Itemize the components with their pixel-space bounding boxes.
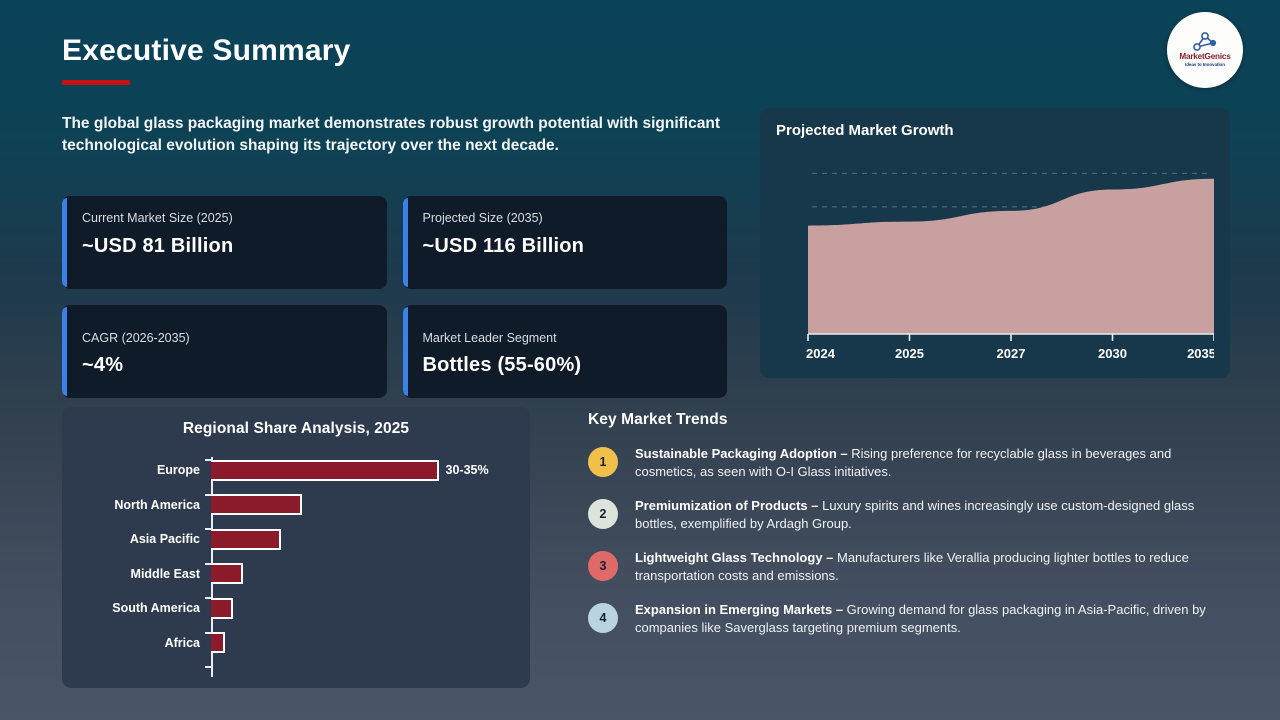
- trend-heading: Lightweight Glass Technology –: [635, 550, 833, 565]
- stat-card-projected-size: Projected Size (2035) ~USD 116 Billion: [403, 196, 728, 289]
- trend-heading: Expansion in Emerging Markets –: [635, 602, 843, 617]
- x-axis-tick-label: 2030: [1098, 346, 1127, 361]
- stat-card-current-market-size: Current Market Size (2025) ~USD 81 Billi…: [62, 196, 387, 289]
- category-axis-tick: [205, 563, 212, 565]
- trend-text: Expansion in Emerging Markets – Growing …: [635, 601, 1228, 638]
- stat-card-market-leader-segment: Market Leader Segment Bottles (55-60%): [403, 305, 728, 398]
- page-title: Executive Summary: [62, 34, 351, 67]
- area-series: [808, 179, 1214, 334]
- category-axis-tick: [205, 528, 212, 530]
- bar-value-label: 30-35%: [446, 463, 489, 477]
- section-title: Key Market Trends: [588, 411, 1228, 429]
- network-nodes-icon: [1192, 32, 1218, 52]
- bar-row: Europe30-35%: [62, 453, 530, 488]
- bar-track: [211, 591, 530, 626]
- company-logo: MarketGenics Ideas to Innovation: [1167, 12, 1243, 88]
- area-chart-plot: 20242025202720302035: [776, 152, 1214, 364]
- bar-fill: [211, 494, 302, 515]
- bar-fill: [211, 529, 281, 550]
- trend-item: 4Expansion in Emerging Markets – Growing…: [588, 601, 1228, 638]
- projected-market-growth-chart: Projected Market Growth 2024202520272030…: [760, 108, 1230, 378]
- trend-heading: Sustainable Packaging Adoption –: [635, 446, 848, 461]
- title-underline-accent: [62, 80, 130, 85]
- trend-text: Lightweight Glass Technology – Manufactu…: [635, 549, 1228, 586]
- bar-category-label: South America: [62, 601, 211, 615]
- bar-row: South America: [62, 591, 530, 626]
- header: Executive Summary: [62, 34, 351, 85]
- trend-number-badge: 2: [588, 499, 618, 529]
- trends-list: 1Sustainable Packaging Adoption – Rising…: [588, 445, 1228, 638]
- category-axis-tick: [205, 632, 212, 634]
- x-axis-tick-label: 2025: [895, 346, 924, 361]
- stat-card-cagr: CAGR (2026-2035) ~4%: [62, 305, 387, 398]
- stat-value: ~USD 116 Billion: [423, 235, 710, 258]
- trend-number-badge: 4: [588, 603, 618, 633]
- stat-label: CAGR (2026-2035): [82, 331, 369, 346]
- bar-track: [211, 488, 530, 523]
- trend-text: Sustainable Packaging Adoption – Rising …: [635, 445, 1228, 482]
- bar-track: [211, 557, 530, 592]
- bar-category-label: Asia Pacific: [62, 532, 211, 546]
- bar-row: Asia Pacific: [62, 522, 530, 557]
- stat-label: Projected Size (2035): [423, 211, 710, 226]
- trend-number-badge: 3: [588, 551, 618, 581]
- bar-category-label: Europe: [62, 463, 211, 477]
- category-axis-tick: [205, 459, 212, 461]
- category-axis-tick: [205, 597, 212, 599]
- key-market-trends-section: Key Market Trends 1Sustainable Packaging…: [588, 411, 1228, 653]
- x-axis-tick-label: 2035: [1187, 346, 1214, 361]
- bar-category-label: Middle East: [62, 567, 211, 581]
- stat-value: ~USD 81 Billion: [82, 235, 369, 258]
- x-axis-tick-label: 2024: [806, 346, 836, 361]
- x-axis-tick-label: 2027: [997, 346, 1026, 361]
- page-subtitle: The global glass packaging market demons…: [62, 113, 722, 158]
- bar-track: 30-35%: [211, 453, 530, 488]
- key-metrics-grid: Current Market Size (2025) ~USD 81 Billi…: [62, 196, 727, 398]
- stat-label: Current Market Size (2025): [82, 211, 369, 226]
- trend-item: 2Premiumization of Products – Luxury spi…: [588, 497, 1228, 534]
- trend-heading: Premiumization of Products –: [635, 498, 818, 513]
- bar-track: [211, 626, 530, 661]
- bar-fill: [211, 460, 439, 481]
- trend-text: Premiumization of Products – Luxury spir…: [635, 497, 1228, 534]
- stat-value: ~4%: [82, 354, 369, 377]
- logo-tagline: Ideas to Innovation: [1185, 63, 1225, 68]
- trend-number-badge: 1: [588, 447, 618, 477]
- regional-share-analysis-chart: Regional Share Analysis, 2025 Europe30-3…: [62, 407, 530, 688]
- trend-item: 1Sustainable Packaging Adoption – Rising…: [588, 445, 1228, 482]
- stat-value: Bottles (55-60%): [423, 354, 710, 377]
- chart-title: Regional Share Analysis, 2025: [62, 420, 530, 438]
- bar-row: North America: [62, 488, 530, 523]
- logo-company-name: MarketGenics: [1179, 53, 1230, 61]
- bar-category-label: Africa: [62, 636, 211, 650]
- category-axis-tick: [205, 666, 212, 668]
- category-axis-tick: [205, 494, 212, 496]
- bar-chart-plot: Europe30-35%North AmericaAsia PacificMid…: [62, 453, 530, 681]
- bar-fill: [211, 563, 243, 584]
- chart-title: Projected Market Growth: [776, 122, 1214, 139]
- bar-row: Africa: [62, 626, 530, 661]
- bar-fill: [211, 598, 233, 619]
- bar-category-label: North America: [62, 498, 211, 512]
- bar-row: Middle East: [62, 557, 530, 592]
- trend-item: 3Lightweight Glass Technology – Manufact…: [588, 549, 1228, 586]
- stat-label: Market Leader Segment: [423, 331, 710, 346]
- bar-fill: [211, 632, 225, 653]
- bar-track: [211, 522, 530, 557]
